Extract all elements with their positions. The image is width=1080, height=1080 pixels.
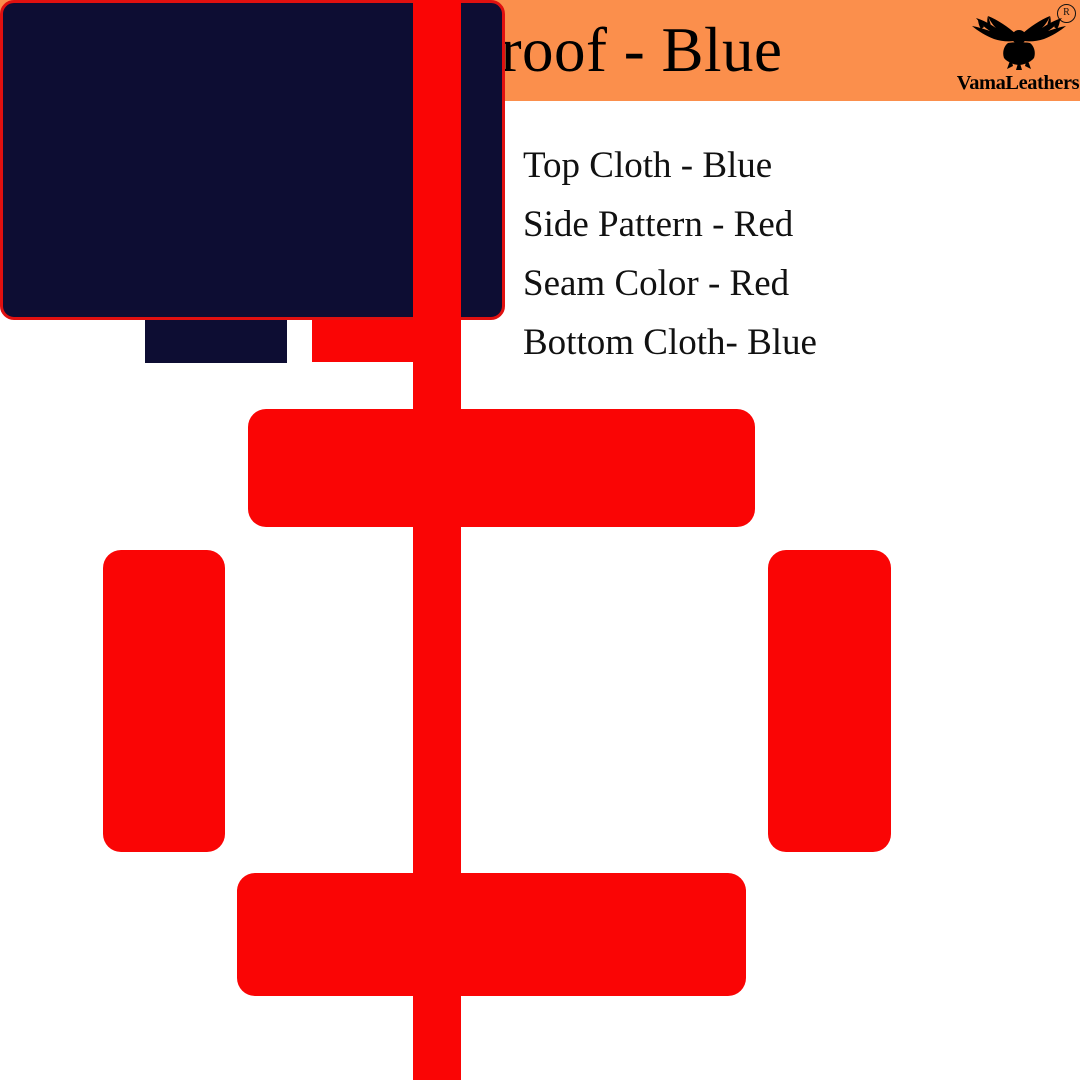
product-spec-page: Water Proof - Blue R: [0, 0, 1080, 1080]
top-panel: [248, 409, 755, 527]
panel-layout-diagram: [0, 0, 1080, 1080]
right-panel: [768, 550, 891, 852]
left-panel: [103, 550, 225, 852]
bottom-panel: [237, 873, 746, 996]
center-panel-stripe: [413, 0, 461, 320]
center-panel: [0, 0, 505, 320]
